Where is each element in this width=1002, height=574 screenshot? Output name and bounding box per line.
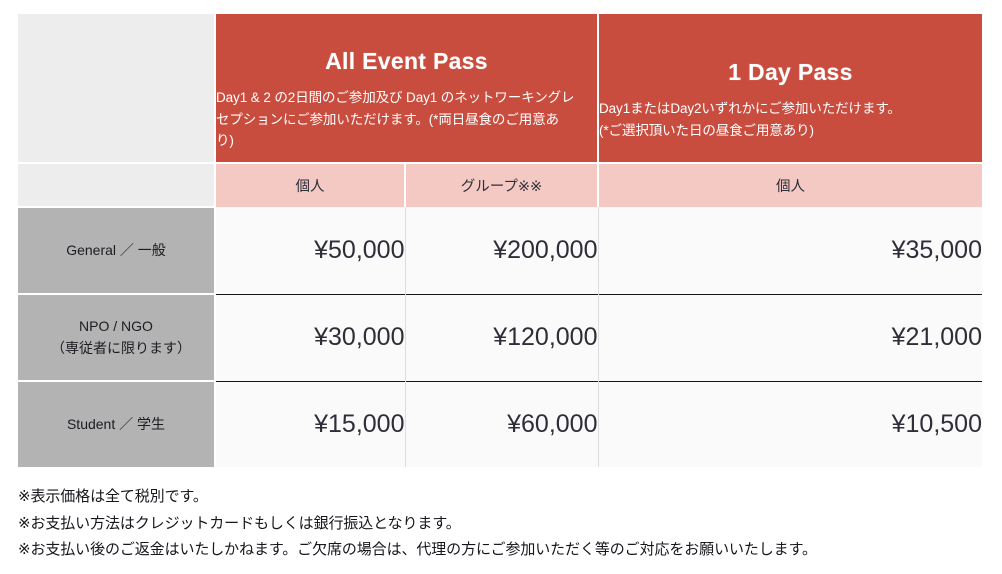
price-general-all-event-individual: ¥50,000 bbox=[215, 207, 405, 294]
pass-description-line: セプションにご参加いただけます。(*両日昼食のご用意あ bbox=[216, 109, 597, 131]
row-label-student: Student ／ 学生 bbox=[18, 381, 215, 467]
sub-header-individual-all-event: 個人 bbox=[215, 163, 405, 207]
price-general-all-event-group: ¥200,000 bbox=[405, 207, 598, 294]
sub-header-individual-one-day: 個人 bbox=[598, 163, 982, 207]
pass-description-all-event: Day1 & 2 の2日間のご参加及び Day1 のネットワーキングレ セプショ… bbox=[216, 87, 597, 153]
pass-description-one-day: Day1またはDay2いずれかにご参加いただけます。 (*ご選択頂いた日の昼食ご… bbox=[599, 98, 982, 142]
sub-header-row: 個人 グループ※※ 個人 bbox=[18, 163, 982, 207]
row-label-line: （専従者に限ります） bbox=[18, 338, 214, 360]
footnote-line: ※表示価格は全て税別です。 bbox=[18, 484, 984, 511]
table-head: All Event Pass Day1 & 2 の2日間のご参加及び Day1 … bbox=[18, 14, 982, 207]
pass-description-line: (*ご選択頂いた日の昼食ご用意あり) bbox=[599, 120, 982, 142]
table-body: General ／ 一般 ¥50,000 ¥200,000 ¥35,000 NP… bbox=[18, 207, 982, 467]
price-general-one-day-individual: ¥35,000 bbox=[598, 207, 982, 294]
footnote-line: ※お支払い後のご返金はいたしかねます。ご欠席の場合は、代理の方にご参加いただく等… bbox=[18, 537, 984, 564]
table-row: General ／ 一般 ¥50,000 ¥200,000 ¥35,000 bbox=[18, 207, 982, 294]
price-npo-all-event-group: ¥120,000 bbox=[405, 294, 598, 381]
pass-title-one-day: 1 Day Pass bbox=[599, 59, 982, 86]
price-student-all-event-individual: ¥15,000 bbox=[215, 381, 405, 467]
row-label-line: NPO / NGO bbox=[79, 318, 153, 334]
footnotes: ※表示価格は全て税別です。 ※お支払い方法はクレジットカードもしくは銀行振込とな… bbox=[18, 484, 984, 564]
row-label-general: General ／ 一般 bbox=[18, 207, 215, 294]
pass-description-line: り) bbox=[216, 130, 597, 152]
sub-header-group-all-event: グループ※※ bbox=[405, 163, 598, 207]
pricing-page: All Event Pass Day1 & 2 の2日間のご参加及び Day1 … bbox=[0, 0, 1002, 574]
row-label-npo-ngo: NPO / NGO （専従者に限ります） bbox=[18, 294, 215, 381]
pass-header-one-day: 1 Day Pass Day1またはDay2いずれかにご参加いただけます。 (*… bbox=[598, 14, 982, 163]
row-label-line: Student ／ 学生 bbox=[67, 416, 165, 432]
pass-description-line: Day1またはDay2いずれかにご参加いただけます。 bbox=[599, 98, 982, 120]
table-row: Student ／ 学生 ¥15,000 ¥60,000 ¥10,500 bbox=[18, 381, 982, 467]
header-corner-cell bbox=[18, 14, 215, 163]
price-student-one-day-individual: ¥10,500 bbox=[598, 381, 982, 467]
pass-description-line: Day1 & 2 の2日間のご参加及び Day1 のネットワーキングレ bbox=[216, 87, 597, 109]
sub-header-corner-cell bbox=[18, 163, 215, 207]
price-student-all-event-group: ¥60,000 bbox=[405, 381, 598, 467]
pass-header-row: All Event Pass Day1 & 2 の2日間のご参加及び Day1 … bbox=[18, 14, 982, 163]
price-npo-one-day-individual: ¥21,000 bbox=[598, 294, 982, 381]
pass-title-all-event: All Event Pass bbox=[216, 48, 597, 75]
price-npo-all-event-individual: ¥30,000 bbox=[215, 294, 405, 381]
footnote-line: ※お支払い方法はクレジットカードもしくは銀行振込となります。 bbox=[18, 511, 984, 538]
pass-header-all-event: All Event Pass Day1 & 2 の2日間のご参加及び Day1 … bbox=[215, 14, 598, 163]
table-row: NPO / NGO （専従者に限ります） ¥30,000 ¥120,000 ¥2… bbox=[18, 294, 982, 381]
row-label-line: General ／ 一般 bbox=[66, 242, 166, 258]
pricing-table: All Event Pass Day1 & 2 の2日間のご参加及び Day1 … bbox=[18, 14, 982, 467]
